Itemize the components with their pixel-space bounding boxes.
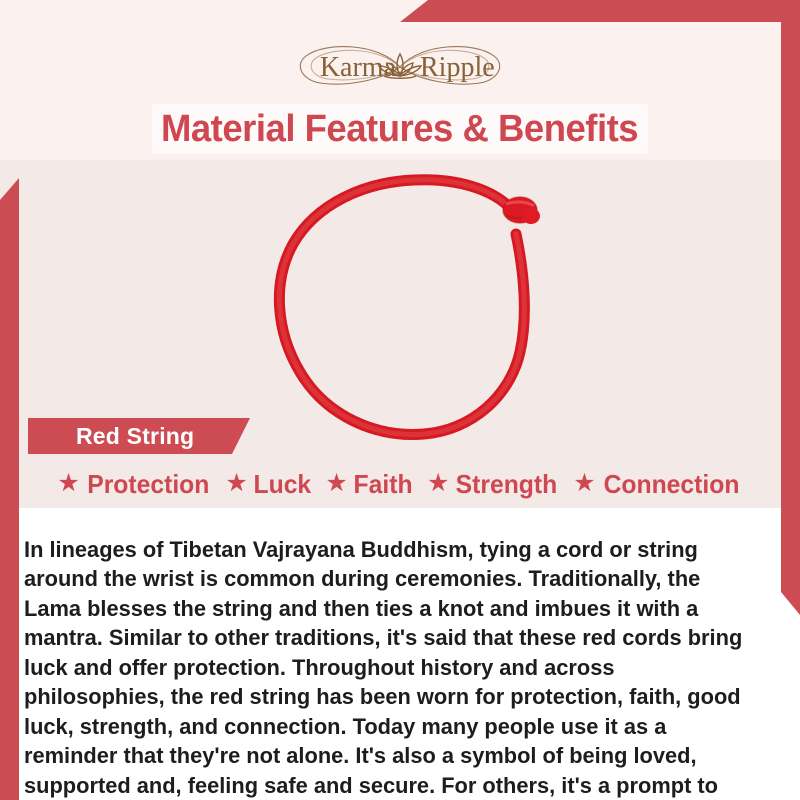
infographic-canvas: Karma Ripple Material Features & Benefit… [0,0,800,800]
product-image-red-string-bracelet [248,168,568,468]
benefits-row: ★ Protection ★ Luck ★ Faith ★ Strength ★… [20,466,780,502]
star-icon: ★ [325,471,347,496]
decor-left-edge-bar [0,178,19,800]
benefit-item-strength: ★ Strength [422,471,565,497]
description-paragraph: In lineages of Tibetan Vajrayana Buddhis… [24,535,755,800]
star-icon: ★ [57,471,79,496]
star-icon: ★ [225,471,247,496]
star-icon: ★ [573,471,595,496]
material-name: Red String [76,423,194,450]
decor-top-right-bar [400,0,800,22]
material-ribbon: Red String [28,418,250,454]
star-icon: ★ [427,471,449,496]
page-title-band: Material Features & Benefits [152,104,648,154]
logo-word-right: Ripple [420,52,495,83]
benefit-item-protection: ★ Protection [52,471,217,497]
brand-logo: Karma Ripple [0,38,800,96]
benefit-label: Faith [353,471,412,497]
benefit-item-luck: ★ Luck [220,471,317,497]
benefit-label: Strength [456,471,558,497]
benefit-label: Luck [253,471,311,497]
benefit-label: Connection [603,471,739,497]
logo-word-left: Karma [320,52,397,83]
logo-svg: Karma Ripple [250,38,550,96]
benefit-item-faith: ★ Faith [320,471,419,497]
page-title: Material Features & Benefits [161,110,638,148]
benefit-item-connection: ★ Connection [568,471,747,497]
bracelet-knot [503,197,540,224]
benefit-label: Protection [87,471,209,497]
